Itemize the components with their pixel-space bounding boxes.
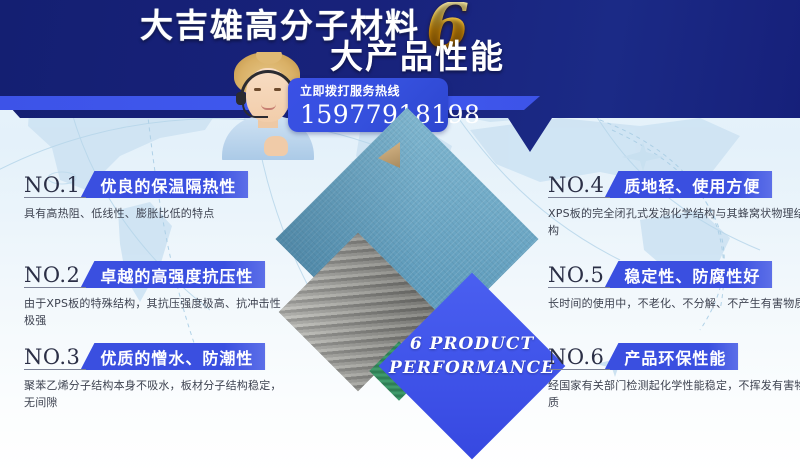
feature-4-badge: 质地轻、使用方便 <box>604 171 772 198</box>
title-sub-text: 大产品性能 <box>330 30 505 78</box>
feature-item-3: NO.3 优质的憎水、防潮性 聚苯乙烯分子结构本身不吸水，板材分子结构稳定，无间… <box>24 340 292 411</box>
feature-5-header: NO.5 稳定性、防腐性好 <box>548 258 800 288</box>
feature-item-6: NO.6 产品环保性能 经国家有关部门检测起化学性能稳定，不挥发有害物质 <box>548 340 800 411</box>
feature-2-badge: 卓越的高强度抗压性 <box>80 261 265 288</box>
feature-1-description: 具有高热阻、低线性、膨胀比低的特点 <box>24 205 282 222</box>
feature-6-number: NO.6 <box>548 345 610 370</box>
feature-3-number: NO.3 <box>24 345 86 370</box>
feature-6-header: NO.6 产品环保性能 <box>548 340 800 370</box>
feature-5-number: NO.5 <box>548 263 610 288</box>
feature-4-number: NO.4 <box>548 173 610 198</box>
feature-3-title: 优质的憎水、防潮性 <box>100 345 253 369</box>
headset-microphone-icon <box>242 102 268 118</box>
feature-6-title: 产品环保性能 <box>624 345 726 369</box>
feature-4-description: XPS板的完全闭孔式发泡化学结构与其蜂窝状物理结构 <box>548 205 800 239</box>
feature-2-title: 卓越的高强度抗压性 <box>100 263 253 287</box>
feature-5-description: 长时间的使用中，不老化、不分解、不产生有害物质 <box>548 295 800 312</box>
feature-1-title: 优良的保温隔热性 <box>100 173 236 197</box>
feature-1-number: NO.1 <box>24 173 86 198</box>
center-product-artwork: 6 PRODUCT PERFORMANCE <box>282 140 532 422</box>
feature-6-badge: 产品环保性能 <box>604 343 738 370</box>
hotline-label: 立即拨打服务热线 <box>300 82 448 100</box>
feature-1-header: NO.1 优良的保温隔热性 <box>24 168 292 198</box>
feature-6-description: 经国家有关部门检测起化学性能稳定，不挥发有害物质 <box>548 377 800 411</box>
feature-item-1: NO.1 优良的保温隔热性 具有高热阻、低线性、膨胀比低的特点 <box>24 168 292 222</box>
feature-2-description: 由于XPS板的特殊结构，其抗压强度极高、抗冲击性极强 <box>24 295 282 329</box>
feature-4-header: NO.4 质地轻、使用方便 <box>548 168 800 198</box>
feature-5-title: 稳定性、防腐性好 <box>624 263 760 287</box>
feature-item-5: NO.5 稳定性、防腐性好 长时间的使用中，不老化、不分解、不产生有害物质 <box>548 258 800 312</box>
feature-3-description: 聚苯乙烯分子结构本身不吸水，板材分子结构稳定，无间隙 <box>24 377 282 411</box>
feature-4-title: 质地轻、使用方便 <box>624 173 760 197</box>
feature-3-header: NO.3 优质的憎水、防潮性 <box>24 340 292 370</box>
feature-item-4: NO.4 质地轻、使用方便 XPS板的完全闭孔式发泡化学结构与其蜂窝状物理结构 <box>548 168 800 239</box>
feature-5-badge: 稳定性、防腐性好 <box>604 261 772 288</box>
feature-2-number: NO.2 <box>24 263 86 288</box>
feature-3-badge: 优质的憎水、防潮性 <box>80 343 265 370</box>
feature-1-badge: 优良的保温隔热性 <box>80 171 248 198</box>
poster-canvas: 大吉雄高分子材料 6 大产品性能 立即拨打服务热线 15977918198 6 … <box>0 0 800 474</box>
feature-2-header: NO.2 卓越的高强度抗压性 <box>24 258 292 288</box>
feature-item-2: NO.2 卓越的高强度抗压性 由于XPS板的特殊结构，其抗压强度极高、抗冲击性极… <box>24 258 292 329</box>
